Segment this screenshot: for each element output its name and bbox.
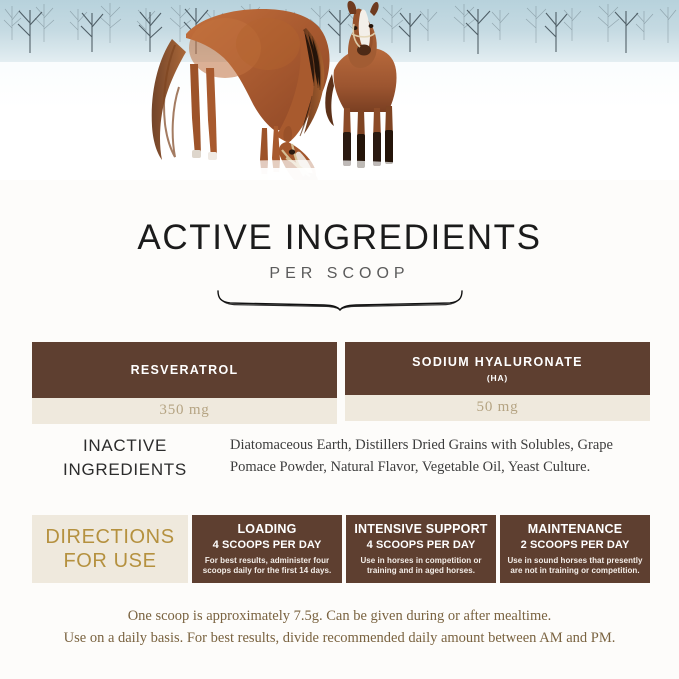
flourish-divider bbox=[0, 289, 679, 311]
dosage-desc-line-2: training and in aged horses. bbox=[367, 566, 475, 575]
active-ingredient-card: RESVERATROL 350 mg bbox=[32, 342, 337, 424]
active-ingredient-name: SODIUM HYALURONATE bbox=[412, 355, 583, 370]
inactive-label-line-2: INGREDIENTS bbox=[32, 458, 218, 482]
usage-note-line-1: One scoop is approximately 7.5g. Can be … bbox=[0, 605, 679, 627]
dosage-desc-line-1: Use in horses in competition or bbox=[360, 556, 481, 565]
dosage-desc-line-1: Use in sound horses that presently bbox=[507, 556, 642, 565]
dosage-amount: 2 SCOOPS PER DAY bbox=[521, 538, 630, 552]
active-ingredient-card: SODIUM HYALURONATE (HA) 50 mg bbox=[345, 342, 650, 424]
dosage-title: LOADING bbox=[237, 522, 296, 537]
dosage-description: For best results, administer four scoops… bbox=[203, 556, 331, 576]
directions-title-line-1: DIRECTIONS bbox=[45, 525, 174, 549]
page-title: ACTIVE INGREDIENTS bbox=[0, 218, 679, 258]
product-label-page: ACTIVE INGREDIENTS PER SCOOP RESVERATROL… bbox=[0, 0, 679, 679]
dosage-desc-line-2: scoops daily for the first 14 days. bbox=[203, 566, 331, 575]
active-ingredient-header: RESVERATROL bbox=[32, 342, 337, 398]
active-ingredients-row: RESVERATROL 350 mg SODIUM HYALURONATE (H… bbox=[32, 342, 650, 424]
dosage-card-loading: LOADING 4 SCOOPS PER DAY For best result… bbox=[192, 515, 342, 583]
inactive-ingredients-text: Diatomaceous Earth, Distillers Dried Gra… bbox=[218, 432, 650, 478]
dosage-description: Use in sound horses that presently are n… bbox=[507, 556, 642, 576]
active-ingredient-header: SODIUM HYALURONATE (HA) bbox=[345, 342, 650, 395]
dosage-desc-line-1: For best results, administer four bbox=[205, 556, 329, 565]
dosage-card-intensive-support: INTENSIVE SUPPORT 4 SCOOPS PER DAY Use i… bbox=[346, 515, 496, 583]
dosage-title: INTENSIVE SUPPORT bbox=[354, 522, 487, 537]
directions-for-use-row: DIRECTIONS FOR USE LOADING 4 SCOOPS PER … bbox=[32, 515, 650, 583]
active-ingredient-amount: 350 mg bbox=[32, 398, 337, 424]
dosage-description: Use in horses in competition or training… bbox=[360, 556, 481, 576]
brace-ornament-icon bbox=[216, 289, 464, 311]
dosage-amount: 4 SCOOPS PER DAY bbox=[213, 538, 322, 552]
directions-title-line-2: FOR USE bbox=[63, 549, 156, 573]
directions-for-use-title: DIRECTIONS FOR USE bbox=[32, 515, 188, 583]
inactive-ingredients-row: INACTIVE INGREDIENTS Diatomaceous Earth,… bbox=[32, 432, 650, 482]
active-ingredient-amount: 50 mg bbox=[345, 395, 650, 421]
usage-note-line-2: Use on a daily basis. For best results, … bbox=[0, 627, 679, 649]
dosage-card-maintenance: MAINTENANCE 2 SCOOPS PER DAY Use in soun… bbox=[500, 515, 650, 583]
inactive-label-line-1: INACTIVE bbox=[32, 434, 218, 458]
inactive-ingredients-label: INACTIVE INGREDIENTS bbox=[32, 432, 218, 482]
dosage-desc-line-2: are not in training or competition. bbox=[510, 566, 639, 575]
dosage-amount: 4 SCOOPS PER DAY bbox=[367, 538, 476, 552]
usage-note: One scoop is approximately 7.5g. Can be … bbox=[0, 605, 679, 649]
active-ingredient-abbreviation: (HA) bbox=[487, 373, 508, 383]
title-block: ACTIVE INGREDIENTS PER SCOOP bbox=[0, 218, 679, 311]
page-subtitle: PER SCOOP bbox=[0, 265, 679, 283]
active-ingredient-name: RESVERATROL bbox=[131, 363, 239, 378]
horses-photo bbox=[0, 0, 679, 180]
hero-banner bbox=[0, 0, 679, 180]
dosage-title: MAINTENANCE bbox=[528, 522, 623, 537]
